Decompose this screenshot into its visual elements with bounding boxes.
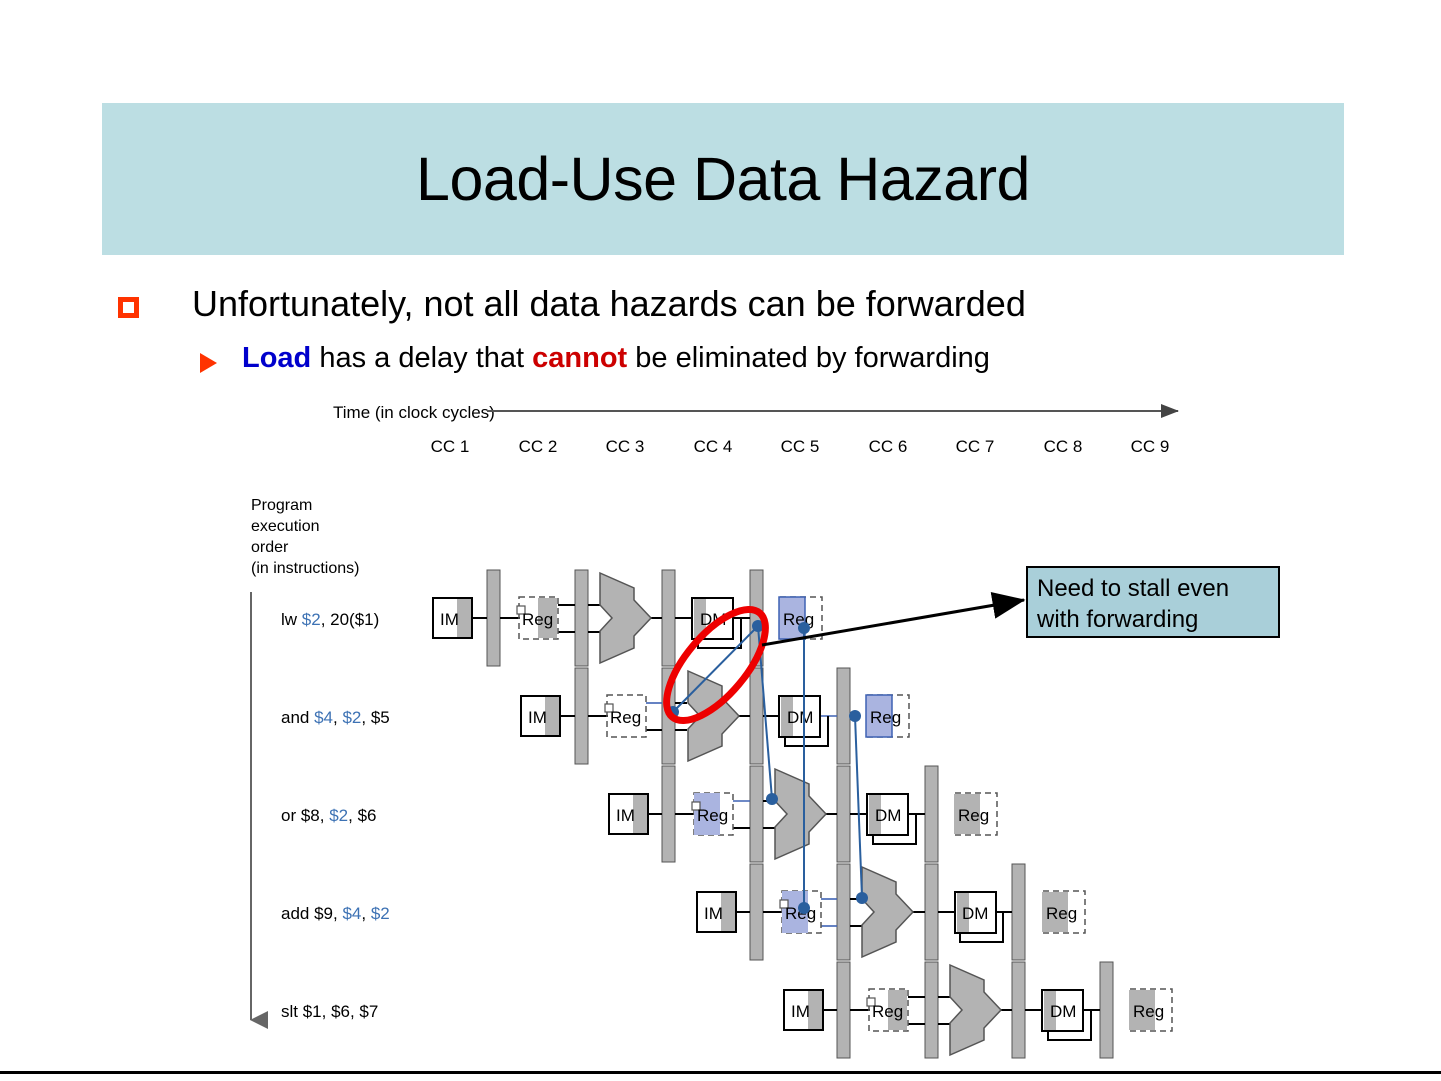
stage-reg-wb-row4: Reg bbox=[1042, 891, 1085, 933]
stage-reg-id-row5: Reg bbox=[867, 989, 908, 1031]
forward-node bbox=[798, 902, 810, 914]
program-order-line-3: order bbox=[251, 539, 289, 556]
stage-im-row4: IM bbox=[697, 892, 736, 932]
cycle-label-6: CC 6 bbox=[869, 437, 908, 456]
stage-dm-row4: DM bbox=[955, 892, 996, 933]
stage-reg-wb-row5: Reg bbox=[1129, 989, 1172, 1031]
stage-reg-wb-row3: Reg bbox=[954, 793, 997, 835]
stage-im-row3: IM bbox=[609, 794, 648, 834]
svg-text:Reg: Reg bbox=[870, 708, 901, 727]
bottom-rule bbox=[0, 1071, 1441, 1074]
svg-text:IM: IM bbox=[704, 904, 723, 923]
cycle-label-5: CC 5 bbox=[781, 437, 820, 456]
stage-dm-row2: DM bbox=[779, 696, 820, 737]
forward-node bbox=[849, 710, 861, 722]
svg-text:Reg: Reg bbox=[872, 1002, 903, 1021]
stage-dm-row5: DM bbox=[1042, 990, 1083, 1031]
program-order-line-4: (in instructions) bbox=[251, 560, 359, 577]
forward-node bbox=[798, 622, 810, 634]
svg-text:DM: DM bbox=[787, 708, 813, 727]
svg-text:IM: IM bbox=[528, 708, 547, 727]
svg-text:DM: DM bbox=[1050, 1002, 1076, 1021]
callout-text: Need to stall even with forwarding bbox=[1037, 574, 1277, 635]
svg-text:Reg: Reg bbox=[522, 610, 553, 629]
pipeline-row-5: IM Reg DM Reg bbox=[784, 962, 1172, 1058]
stage-reg-id-row3: Reg bbox=[692, 793, 733, 835]
svg-text:Reg: Reg bbox=[697, 806, 728, 825]
forward-node bbox=[856, 892, 868, 904]
stage-alu-row5 bbox=[950, 965, 1001, 1055]
cycle-label-2: CC 2 bbox=[519, 437, 558, 456]
instruction-label-1: lw $2, 20($1) bbox=[281, 610, 379, 629]
instruction-label-3: or $8, $2, $6 bbox=[281, 806, 376, 825]
stage-im-row2: IM bbox=[521, 696, 560, 736]
svg-text:IM: IM bbox=[791, 1002, 810, 1021]
forward-node bbox=[766, 793, 778, 805]
callout-box: Need to stall even with forwarding bbox=[1026, 566, 1280, 638]
cycle-label-9: CC 9 bbox=[1131, 437, 1170, 456]
stage-dm-row3: DM bbox=[867, 794, 908, 835]
svg-text:Reg: Reg bbox=[1046, 904, 1077, 923]
callout-line-2: with forwarding bbox=[1037, 605, 1277, 636]
cycle-label-4: CC 4 bbox=[694, 437, 733, 456]
svg-text:IM: IM bbox=[440, 610, 459, 629]
program-order-line-1: Program bbox=[251, 497, 312, 514]
svg-text:DM: DM bbox=[962, 904, 988, 923]
svg-text:IM: IM bbox=[616, 806, 635, 825]
cycle-label-8: CC 8 bbox=[1044, 437, 1083, 456]
stage-im-row5: IM bbox=[784, 990, 823, 1030]
cycle-label-3: CC 3 bbox=[606, 437, 645, 456]
instruction-label-2: and $4, $2, $5 bbox=[281, 708, 390, 727]
svg-text:Reg: Reg bbox=[958, 806, 989, 825]
stage-reg-id-row1: Reg bbox=[517, 597, 558, 639]
stage-im-row1: IM bbox=[433, 598, 472, 638]
svg-text:DM: DM bbox=[875, 806, 901, 825]
pipeline-diagram: Time (in clock cycles) CC 1 CC 2 CC 3 CC… bbox=[0, 0, 1441, 1081]
pipeline-row-4: IM Reg DM Reg bbox=[697, 864, 1085, 960]
stage-alu-row1 bbox=[600, 573, 651, 663]
cycle-label-1: CC 1 bbox=[431, 437, 470, 456]
stage-reg-id-row2: Reg bbox=[605, 695, 646, 737]
stage-alu-row3 bbox=[775, 769, 826, 859]
program-order-line-2: execution bbox=[251, 518, 320, 535]
stage-alu-row4 bbox=[862, 867, 913, 957]
svg-text:Reg: Reg bbox=[1133, 1002, 1164, 1021]
time-axis-label: Time (in clock cycles) bbox=[333, 403, 495, 422]
instruction-label-5: slt $1, $6, $7 bbox=[281, 1002, 378, 1021]
instruction-label-4: add $9, $4, $2 bbox=[281, 904, 390, 923]
svg-text:Reg: Reg bbox=[610, 708, 641, 727]
stage-reg-wb-row2: Reg bbox=[866, 695, 909, 737]
cycle-label-7: CC 7 bbox=[956, 437, 995, 456]
callout-line-1: Need to stall even bbox=[1037, 574, 1277, 605]
